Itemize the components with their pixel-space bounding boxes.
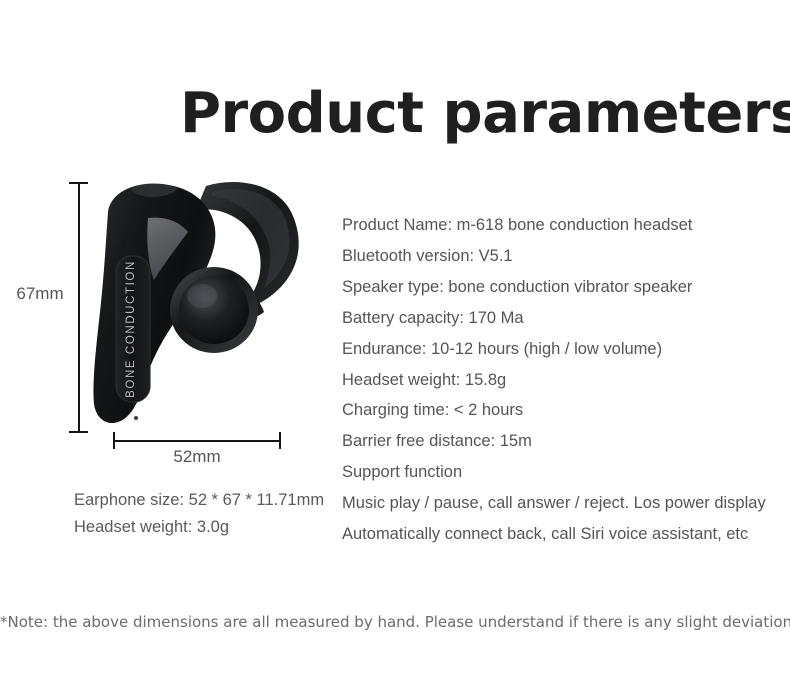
spec-line-battery-capacity: Battery capacity: 170 Ma (342, 303, 772, 334)
spec-line-music-controls: Music play / pause, call answer / reject… (342, 488, 772, 519)
width-dimension-label: 52mm (113, 447, 281, 467)
product-parameters-infographic: Product parameters (0, 0, 790, 683)
detail-line: Headset weight: 3.0g (74, 514, 354, 541)
earphone-size-details: Earphone size: 52 * 67 * 11.71mm Headset… (74, 487, 354, 541)
headset-body-label: BONE CONDUCTION (125, 260, 137, 398)
height-dimension-line (78, 183, 80, 433)
page-title: Product parameters (180, 82, 750, 146)
product-image-bone-conduction-headset: BONE CONDUCTION (88, 172, 318, 440)
spec-line-support-function: Support function (342, 457, 772, 488)
specification-list: Product Name: m-618 bone conduction head… (342, 210, 772, 550)
spec-line-barrier-free-distance: Barrier free distance: 15m (342, 426, 772, 457)
spec-line-endurance: Endurance: 10-12 hours (high / low volum… (342, 334, 772, 365)
spec-line-auto-connect: Automatically connect back, call Siri vo… (342, 519, 772, 550)
footer-note: *Note: the above dimensions are all meas… (0, 611, 790, 633)
detail-line: Earphone size: 52 * 67 * 11.71mm (74, 487, 354, 514)
headset-vibrator-pad (179, 276, 249, 344)
height-dimension-tick-bottom (69, 431, 88, 433)
spec-line-charging-time: Charging time: < 2 hours (342, 395, 772, 426)
spec-line-headset-weight: Headset weight: 15.8g (342, 365, 772, 396)
width-dimension-line (113, 440, 281, 442)
height-dimension-label: 67mm (8, 284, 72, 304)
headset-led-dot (134, 416, 138, 420)
spec-line-speaker-type: Speaker type: bone conduction vibrator s… (342, 272, 772, 303)
spec-line-bluetooth-version: Bluetooth version: V5.1 (342, 241, 772, 272)
spec-line-product-name: Product Name: m-618 bone conduction head… (342, 210, 772, 241)
height-dimension-tick-top (69, 182, 88, 184)
